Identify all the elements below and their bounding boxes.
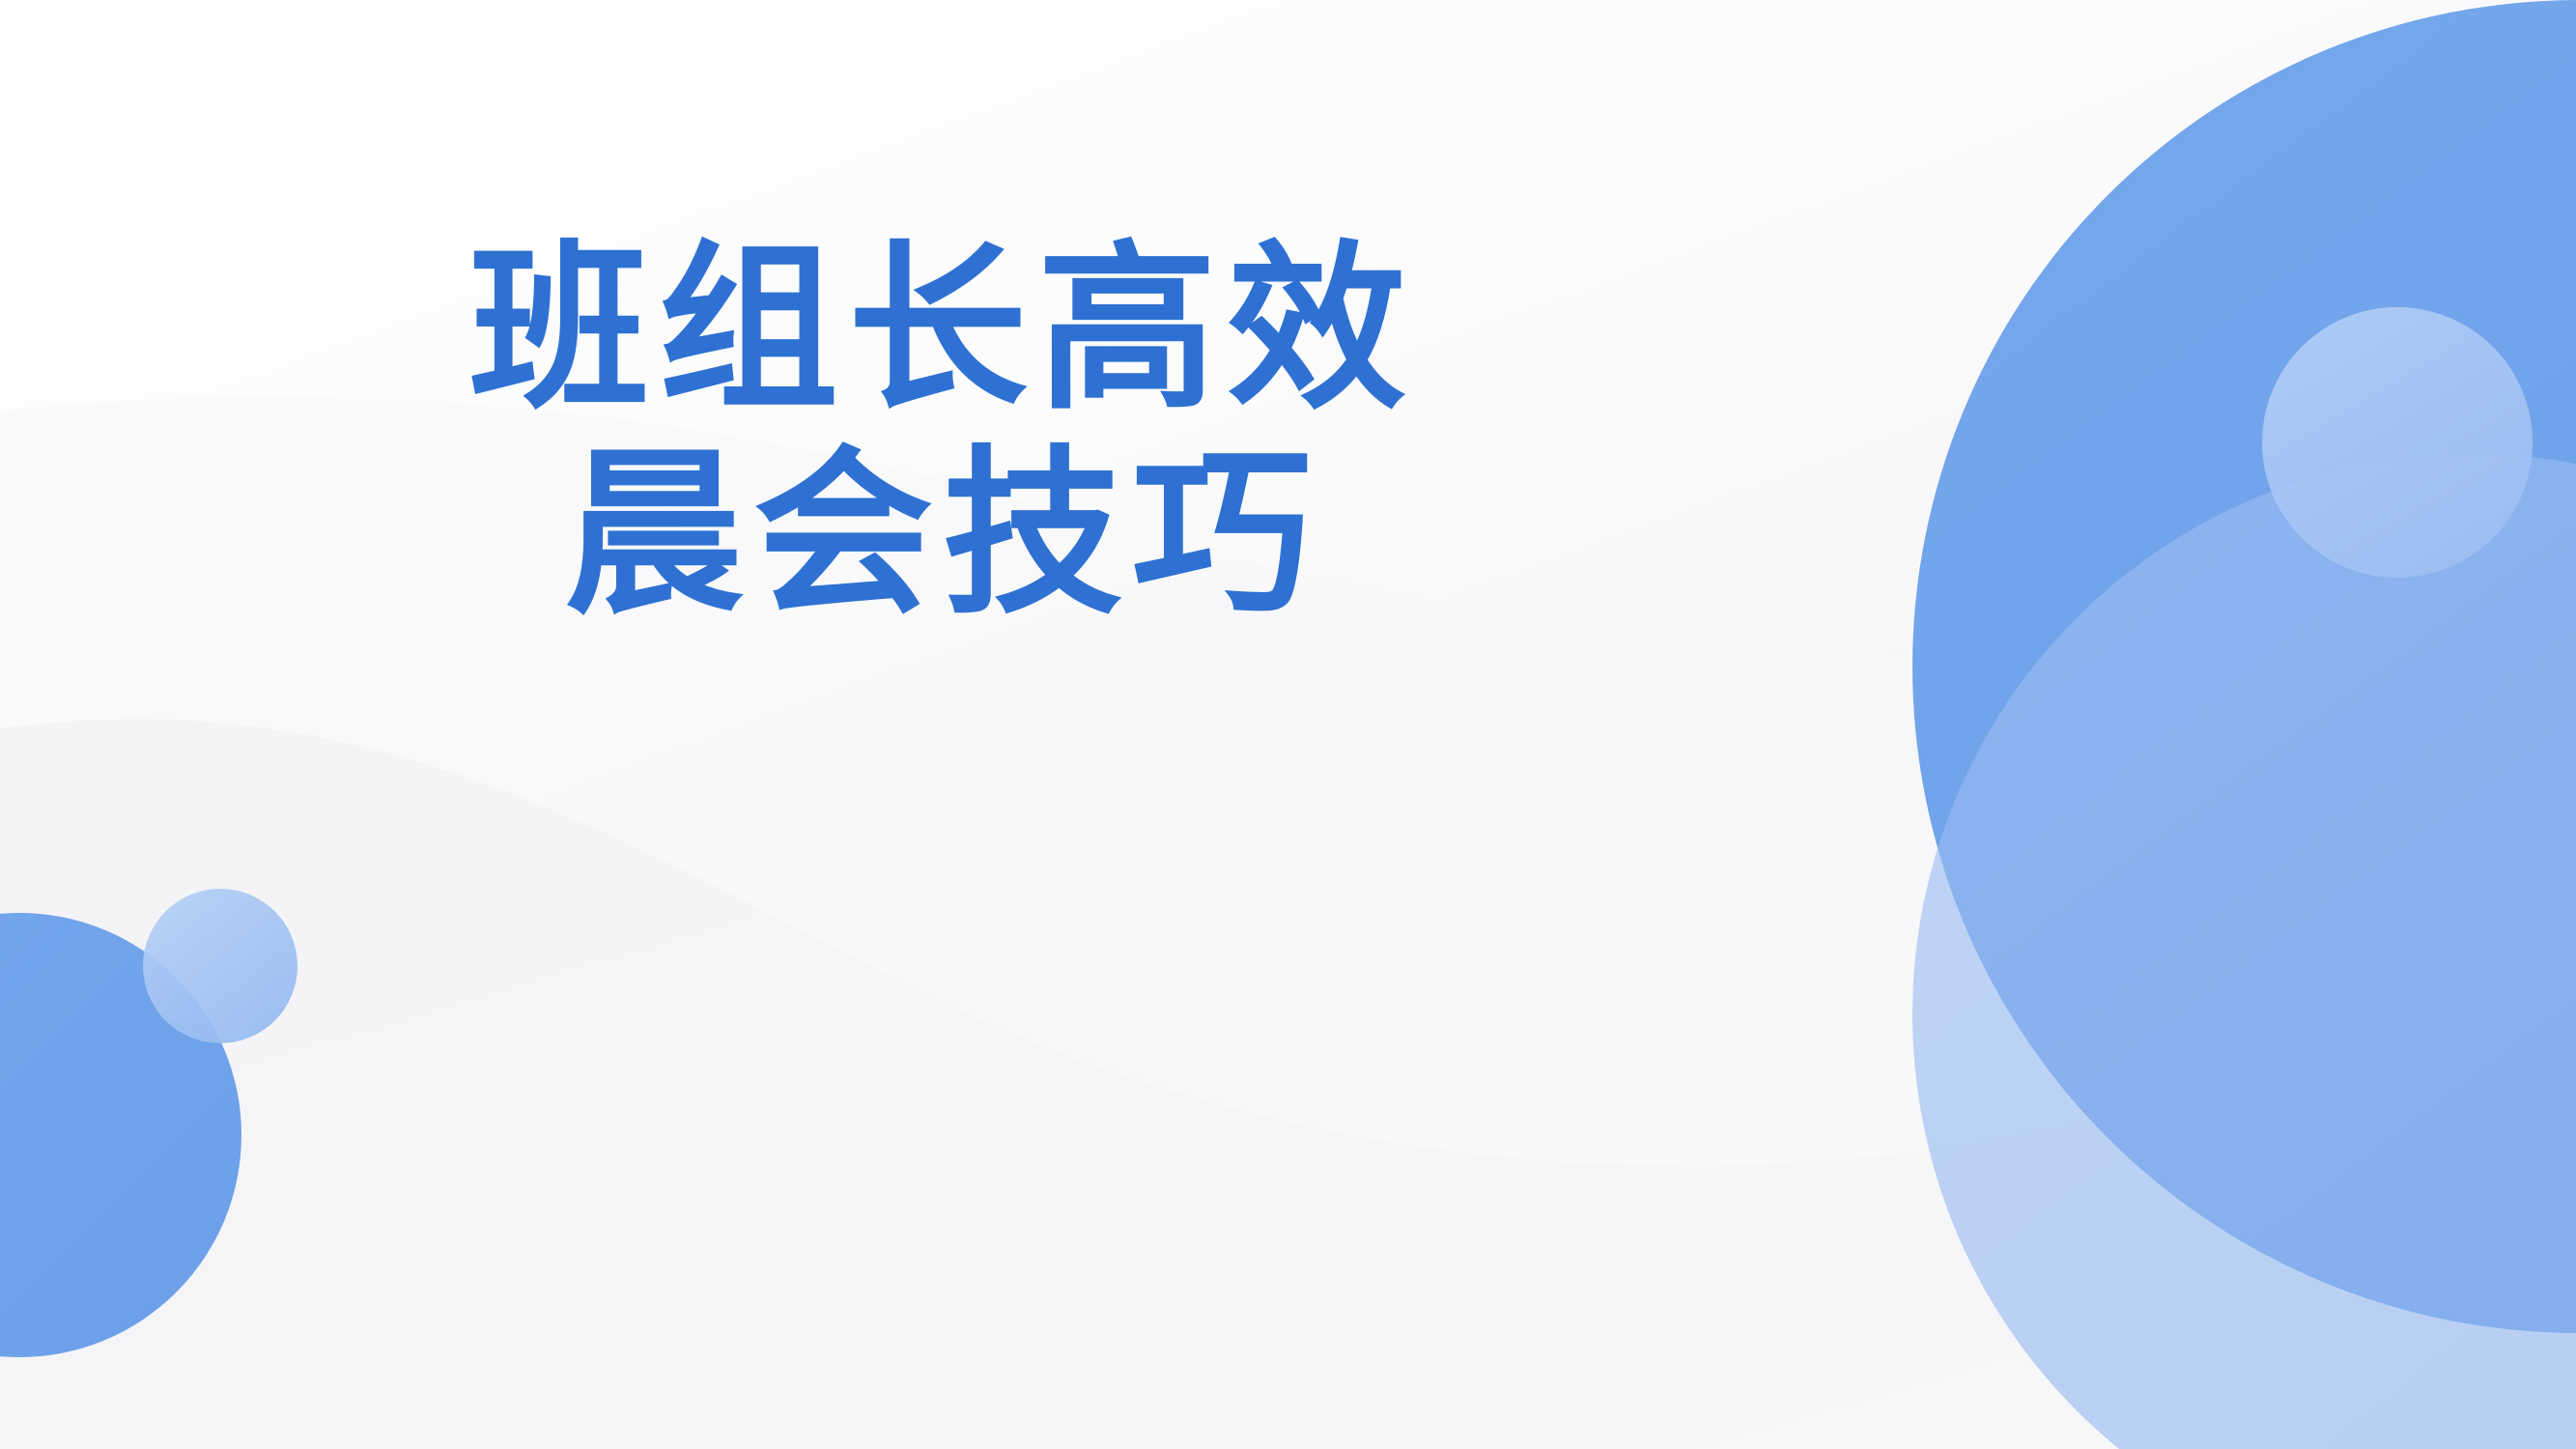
decorative-shapes-layer [0, 0, 2576, 1449]
title-slide: 班组长高效 晨会技巧 [0, 0, 2576, 1449]
title-line-2: 晨会技巧 [0, 433, 1893, 638]
slide-title: 班组长高效 晨会技巧 [0, 228, 1893, 638]
bottom-left-small-circle [143, 889, 297, 1043]
title-line-1: 班组长高效 [0, 228, 1893, 433]
right-small-circle [2262, 307, 2533, 578]
